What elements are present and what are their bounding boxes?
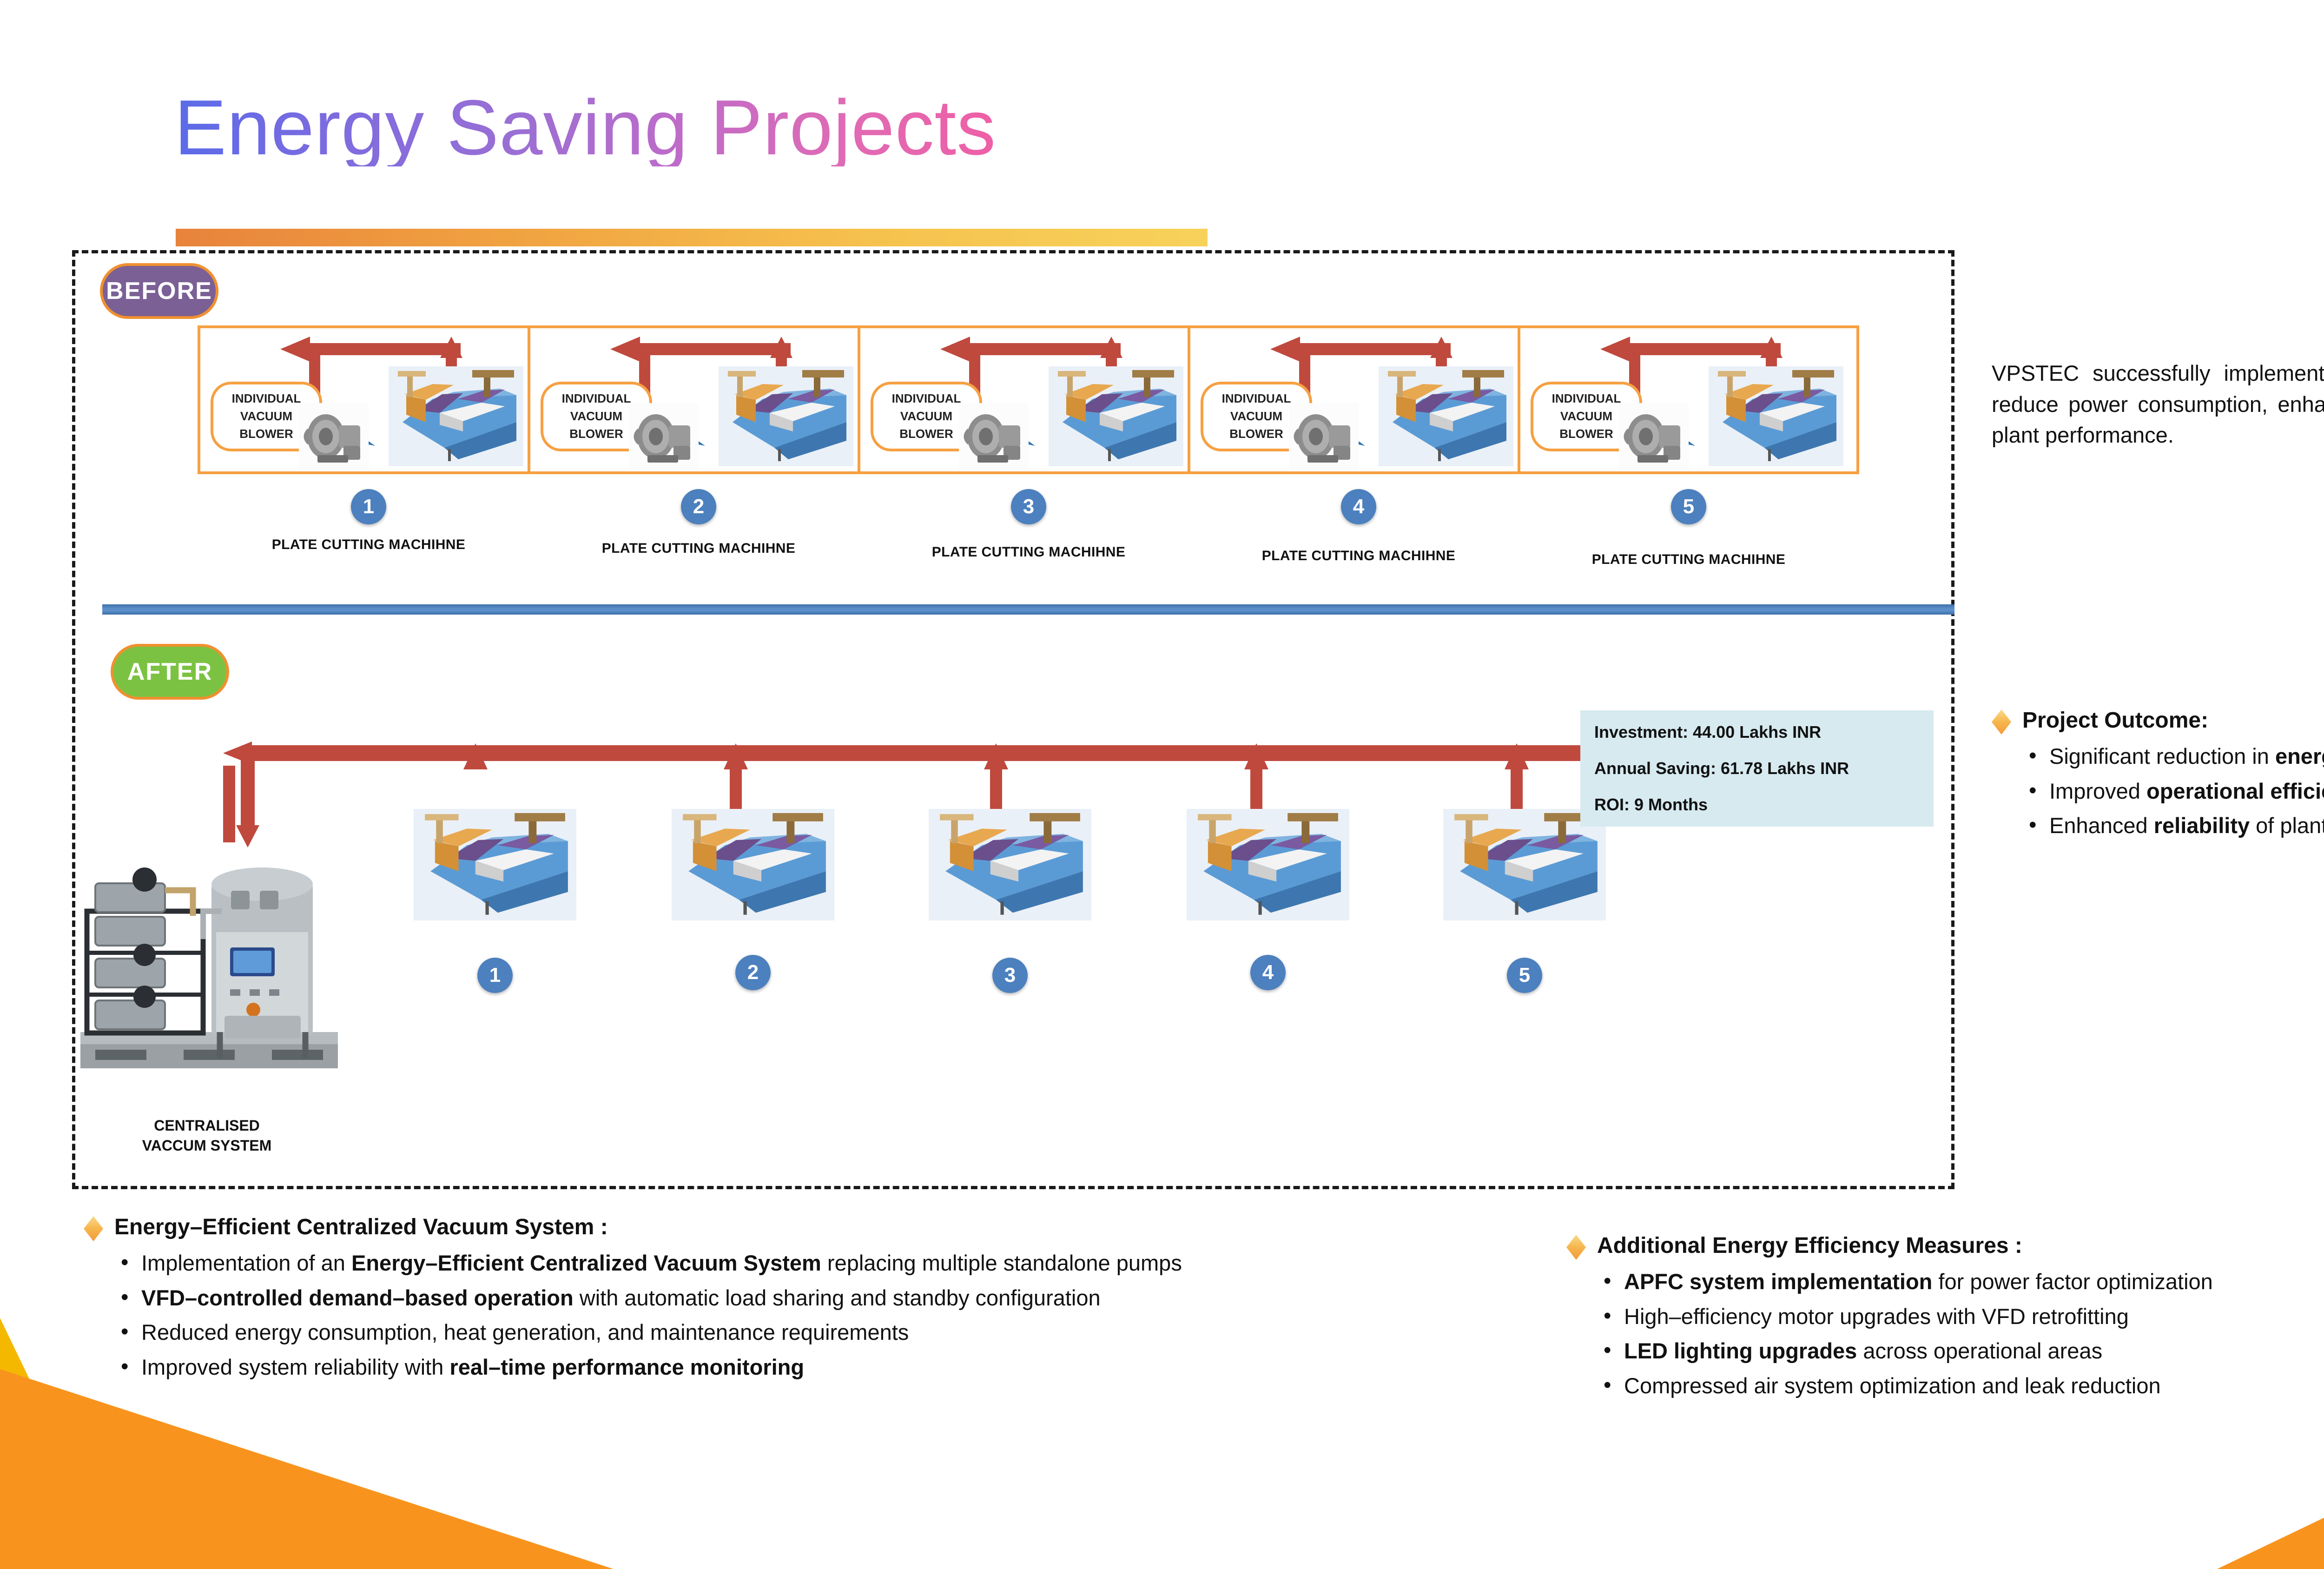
left-measures-heading-text: Energy–Efficient Centralized Vacuum Syst… xyxy=(114,1213,608,1241)
annual-saving-value: Annual Saving: 61.78 Lakhs INR xyxy=(1594,759,1920,778)
centralized-vacuum-measures-block: Energy–Efficient Centralized Vacuum Syst… xyxy=(84,1213,1525,1387)
right-measures-heading-text: Additional Energy Efficiency Measures : xyxy=(1597,1232,2022,1260)
blower-label-line3: BLOWER xyxy=(239,425,293,443)
roi-value: ROI: 9 Months xyxy=(1594,795,1920,814)
machine-number-badge: 2 xyxy=(681,489,716,524)
machine-caption: PLATE CUTTING MACHIHNE xyxy=(602,541,796,556)
plate-cutting-machine-image xyxy=(1049,366,1183,466)
machine-number-badge: 5 xyxy=(1507,958,1542,993)
blower-label-line1: INDIVIDUAL xyxy=(232,390,301,408)
list-item: APFC system implementation for power fac… xyxy=(1624,1266,2324,1298)
list-item: Implementation of an Energy–Efficient Ce… xyxy=(141,1248,1525,1279)
diamond-bullet-icon xyxy=(1992,709,2011,735)
project-outcome-heading-text: Project Outcome: xyxy=(2022,707,2208,735)
machine-number-badge: 3 xyxy=(992,958,1028,993)
machine-number-badge: 4 xyxy=(1250,955,1286,990)
vacuum-caption-line1: CENTRALISED xyxy=(142,1116,272,1136)
machine-caption: PLATE CUTTING MACHIHNE xyxy=(272,537,466,553)
investment-metrics-box: Investment: 44.00 Lakhs INR Annual Savin… xyxy=(1580,710,1934,827)
blower-label-line3: BLOWER xyxy=(899,425,953,443)
blower-label-line1: INDIVIDUAL xyxy=(1552,390,1621,408)
blower-label-line1: INDIVIDUAL xyxy=(892,390,961,408)
blower-label-line2: VACUUM xyxy=(240,408,292,425)
blower-label-line2: VACUUM xyxy=(1230,408,1282,425)
before-badge: BEFORE xyxy=(100,263,218,319)
project-outcome-list: Significant reduction in energy consumpt… xyxy=(1992,741,2324,841)
blower-label-line2: VACUUM xyxy=(1560,408,1612,425)
vacuum-blower-image xyxy=(959,403,1029,470)
plate-cutting-machine-image xyxy=(414,809,576,920)
machine-caption: PLATE CUTTING MACHIHNE xyxy=(932,544,1126,560)
blower-label-line3: BLOWER xyxy=(1229,425,1283,443)
before-machine-module: INDIVIDUALVACUUMBLOWER xyxy=(198,325,539,474)
page-title: Energy Saving Projects xyxy=(174,88,996,166)
title-underline-accent xyxy=(176,229,1208,246)
machine-number-badge: 4 xyxy=(1341,489,1376,524)
additional-measures-block: Additional Energy Efficiency Measures : … xyxy=(1566,1232,2324,1405)
list-item: LED lighting upgrades across operational… xyxy=(1624,1336,2324,1367)
plate-cutting-machine-image xyxy=(672,809,834,920)
before-machine-module: INDIVIDUALVACUUMBLOWER xyxy=(528,325,869,474)
vacuum-blower-image xyxy=(299,403,369,470)
plate-cutting-machine-image xyxy=(929,809,1091,920)
right-measures-list: APFC system implementation for power fac… xyxy=(1566,1266,2324,1402)
blower-label-line1: INDIVIDUAL xyxy=(562,390,631,408)
vacuum-blower-image xyxy=(629,403,699,470)
list-item: Improved operational efficiency and sust… xyxy=(2049,776,2324,807)
before-machine-module: INDIVIDUALVACUUMBLOWER xyxy=(1518,325,1859,474)
plate-cutting-machine-image xyxy=(1187,809,1349,920)
diamond-bullet-icon xyxy=(84,1216,103,1241)
vacuum-blower-image xyxy=(1619,403,1689,470)
section-divider xyxy=(102,604,1954,615)
machine-number-badge: 1 xyxy=(477,958,513,993)
investment-value: Investment: 44.00 Lakhs INR xyxy=(1594,722,1920,742)
machine-caption: PLATE CUTTING MACHIHNE xyxy=(1592,552,1786,568)
plate-cutting-machine-image xyxy=(1379,366,1513,466)
list-item: Reduced energy consumption, heat generat… xyxy=(141,1317,1525,1348)
list-item: Enhanced reliability of plant utility sy… xyxy=(2049,810,2324,841)
machine-number-badge: 2 xyxy=(735,955,771,990)
blower-label-line1: INDIVIDUAL xyxy=(1222,390,1291,408)
corner-decoration-bottom-left-orange xyxy=(0,1369,614,1569)
vacuum-caption-line2: VACCUM SYSTEM xyxy=(142,1136,272,1156)
blower-label-line2: VACUUM xyxy=(900,408,952,425)
diamond-bullet-icon xyxy=(1566,1235,1586,1260)
right-measures-heading: Additional Energy Efficiency Measures : xyxy=(1566,1232,2324,1260)
blower-label-line3: BLOWER xyxy=(569,425,623,443)
blower-label-line3: BLOWER xyxy=(1559,425,1613,443)
machine-number-badge: 1 xyxy=(351,489,386,524)
list-item: VFD–controlled demand–based operation wi… xyxy=(141,1283,1525,1314)
list-item: Improved system reliability with real–ti… xyxy=(141,1352,1525,1383)
plate-cutting-machine-image xyxy=(389,366,523,466)
before-machine-module: INDIVIDUALVACUUMBLOWER xyxy=(1188,325,1529,474)
plate-cutting-machine-image xyxy=(1709,366,1843,466)
vacuum-blower-image xyxy=(1289,403,1359,470)
left-measures-heading: Energy–Efficient Centralized Vacuum Syst… xyxy=(84,1213,1525,1241)
list-item: Significant reduction in energy consumpt… xyxy=(2049,741,2324,772)
before-machine-module: INDIVIDUALVACUUMBLOWER xyxy=(858,325,1199,474)
intro-paragraph: VPSTEC successfully implemented an Energ… xyxy=(1992,358,2324,451)
left-measures-list: Implementation of an Energy–Efficient Ce… xyxy=(84,1248,1525,1383)
vacuum-system-caption: CENTRALISED VACCUM SYSTEM xyxy=(142,1116,272,1156)
plate-cutting-machine-image xyxy=(719,366,853,466)
list-item: High–efficiency motor upgrades with VFD … xyxy=(1624,1301,2324,1332)
project-outcome-block: Project Outcome: Significant reduction i… xyxy=(1992,707,2324,845)
machine-number-badge: 3 xyxy=(1011,489,1046,524)
after-badge: AFTER xyxy=(111,644,229,700)
list-item: Compressed air system optimization and l… xyxy=(1624,1370,2324,1402)
machine-caption: PLATE CUTTING MACHIHNE xyxy=(1262,548,1456,564)
machine-number-badge: 5 xyxy=(1671,489,1706,524)
blower-label-line2: VACUUM xyxy=(570,408,622,425)
project-outcome-heading: Project Outcome: xyxy=(1992,707,2324,735)
